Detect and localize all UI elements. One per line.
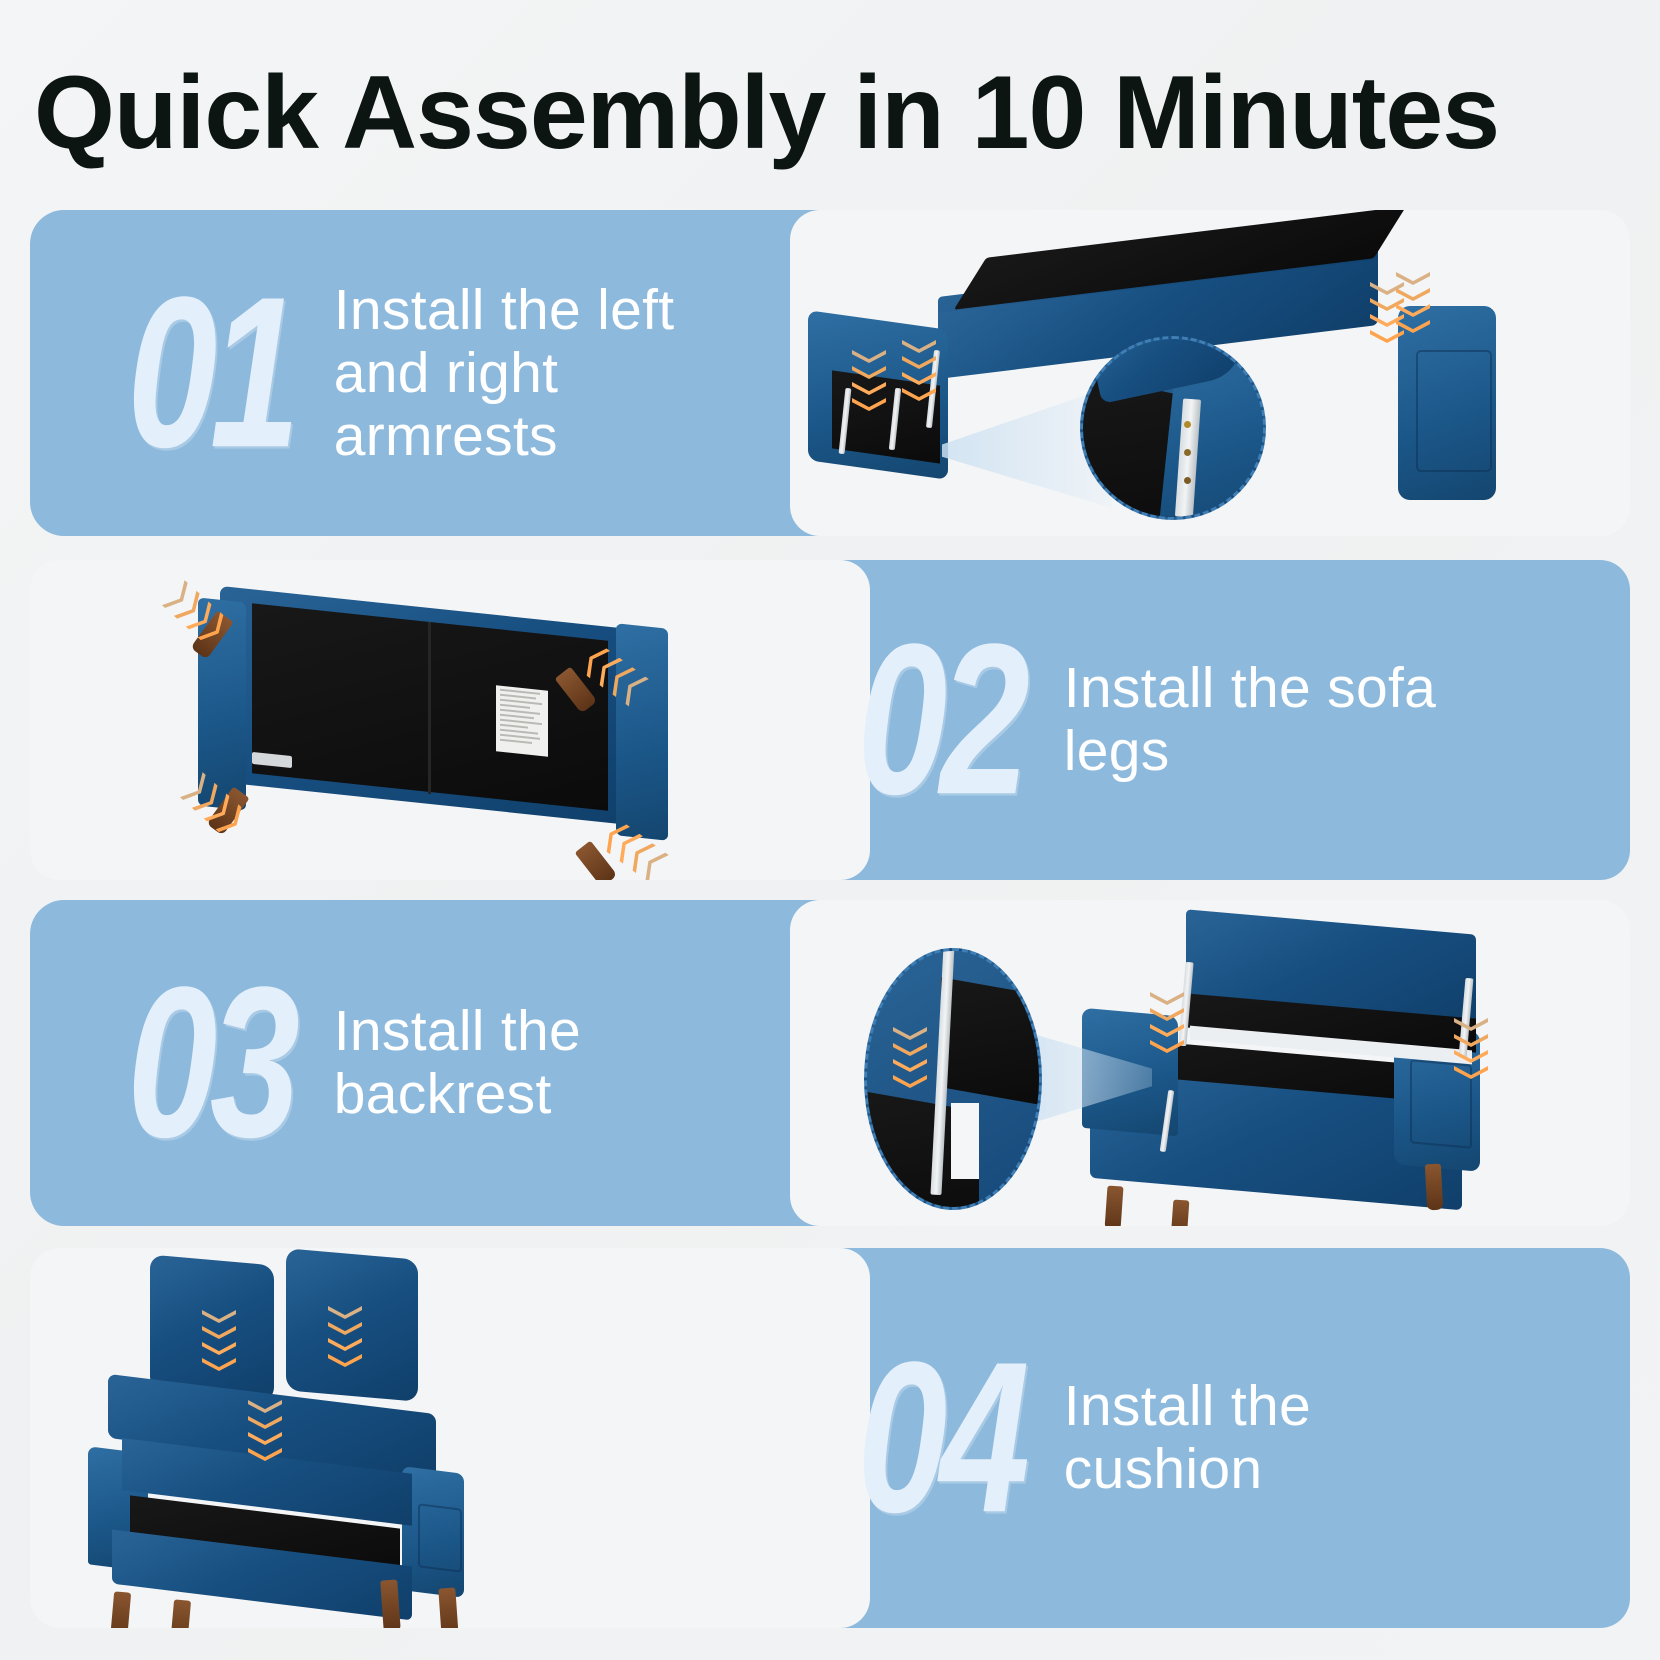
step-number-03: 03 (127, 956, 292, 1171)
step-text-01: 01 Install the left and right armrests (120, 210, 800, 536)
step-caption-03: Install the backrest (334, 1000, 764, 1126)
backrest-assembly-photo (790, 900, 1630, 1226)
step-photo-02 (30, 560, 870, 880)
detail-callout-circle (864, 948, 1042, 1210)
step-caption-01: Install the left and right armrests (334, 279, 764, 468)
step-caption-02: Install the sofa legs (1064, 657, 1494, 783)
step-text-03: 03 Install the backrest (120, 900, 800, 1226)
step-card-03: 03 Install the backrest (30, 900, 1630, 1226)
step-photo-04 (30, 1248, 870, 1628)
step-text-04: 04 Install the cushion (850, 1248, 1590, 1628)
page-title: Quick Assembly in 10 Minutes (34, 58, 1634, 168)
step-number-04: 04 (857, 1331, 1022, 1546)
step-card-04: 04 Install the cushion (30, 1248, 1630, 1628)
detail-callout-circle (1080, 336, 1266, 520)
sofa-legs-photo (30, 560, 870, 880)
step-caption-04: Install the cushion (1064, 1375, 1494, 1501)
step-card-01: 01 Install the left and right armrests (30, 210, 1630, 536)
armrest-assembly-photo (790, 210, 1630, 536)
step-number-02: 02 (857, 613, 1022, 828)
step-card-02: 02 Install the sofa legs (30, 560, 1630, 880)
step-number-01: 01 (127, 266, 292, 481)
step-photo-01 (790, 210, 1630, 536)
cushion-assembly-photo (30, 1248, 870, 1628)
step-text-02: 02 Install the sofa legs (850, 560, 1590, 880)
step-photo-03 (790, 900, 1630, 1226)
